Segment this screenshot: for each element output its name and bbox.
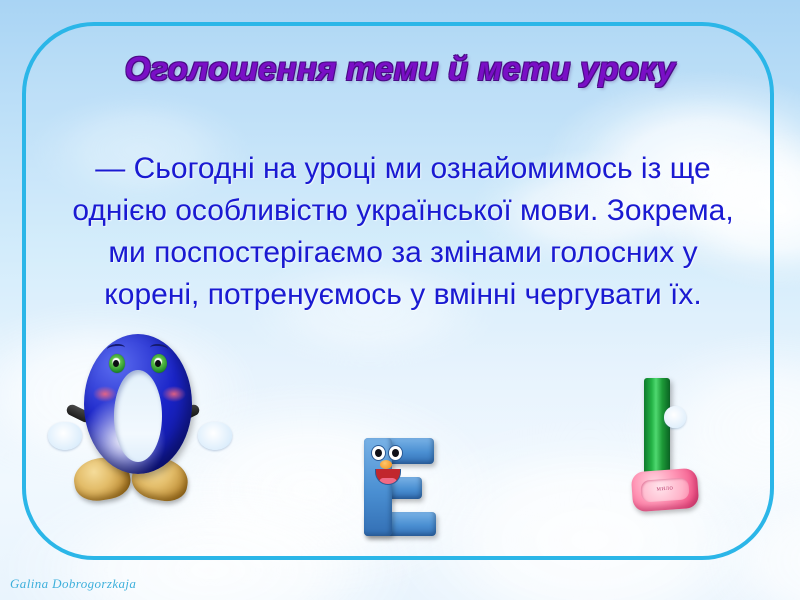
cartoon-letter-e (358, 432, 450, 542)
glove-left-icon (48, 422, 82, 450)
glove-icon (664, 406, 686, 428)
slide-title: Оголошення теми й мети уроку (0, 50, 800, 88)
soap-label: мило (641, 482, 689, 493)
soap-bar-icon: мило (631, 468, 700, 513)
eye-left-icon (109, 354, 125, 373)
soap-inner-panel: мило (640, 477, 689, 502)
cheek-right-icon (162, 386, 186, 402)
author-watermark: Galina Dobrogorzkaja (10, 576, 136, 592)
eyebrow-left-icon (107, 343, 126, 354)
letter-e-body (358, 432, 450, 542)
cheek-left-icon (93, 386, 117, 402)
eye-right-icon (388, 445, 403, 461)
letter-o-body (84, 334, 192, 474)
nose-icon (380, 460, 392, 469)
slide-body-text: — Сьогодні на уроці ми ознайомимось із щ… (58, 148, 748, 316)
letter-o-counter (114, 370, 162, 462)
cartoon-letter-i: мило (620, 378, 720, 518)
eyebrow-right-icon (150, 343, 169, 354)
cartoon-letter-o (52, 330, 232, 515)
slide-canvas: Оголошення теми й мети уроку — Сьогодні … (0, 0, 800, 600)
eye-right-icon (151, 354, 167, 373)
glove-right-icon (198, 422, 232, 450)
eye-left-icon (371, 445, 386, 461)
